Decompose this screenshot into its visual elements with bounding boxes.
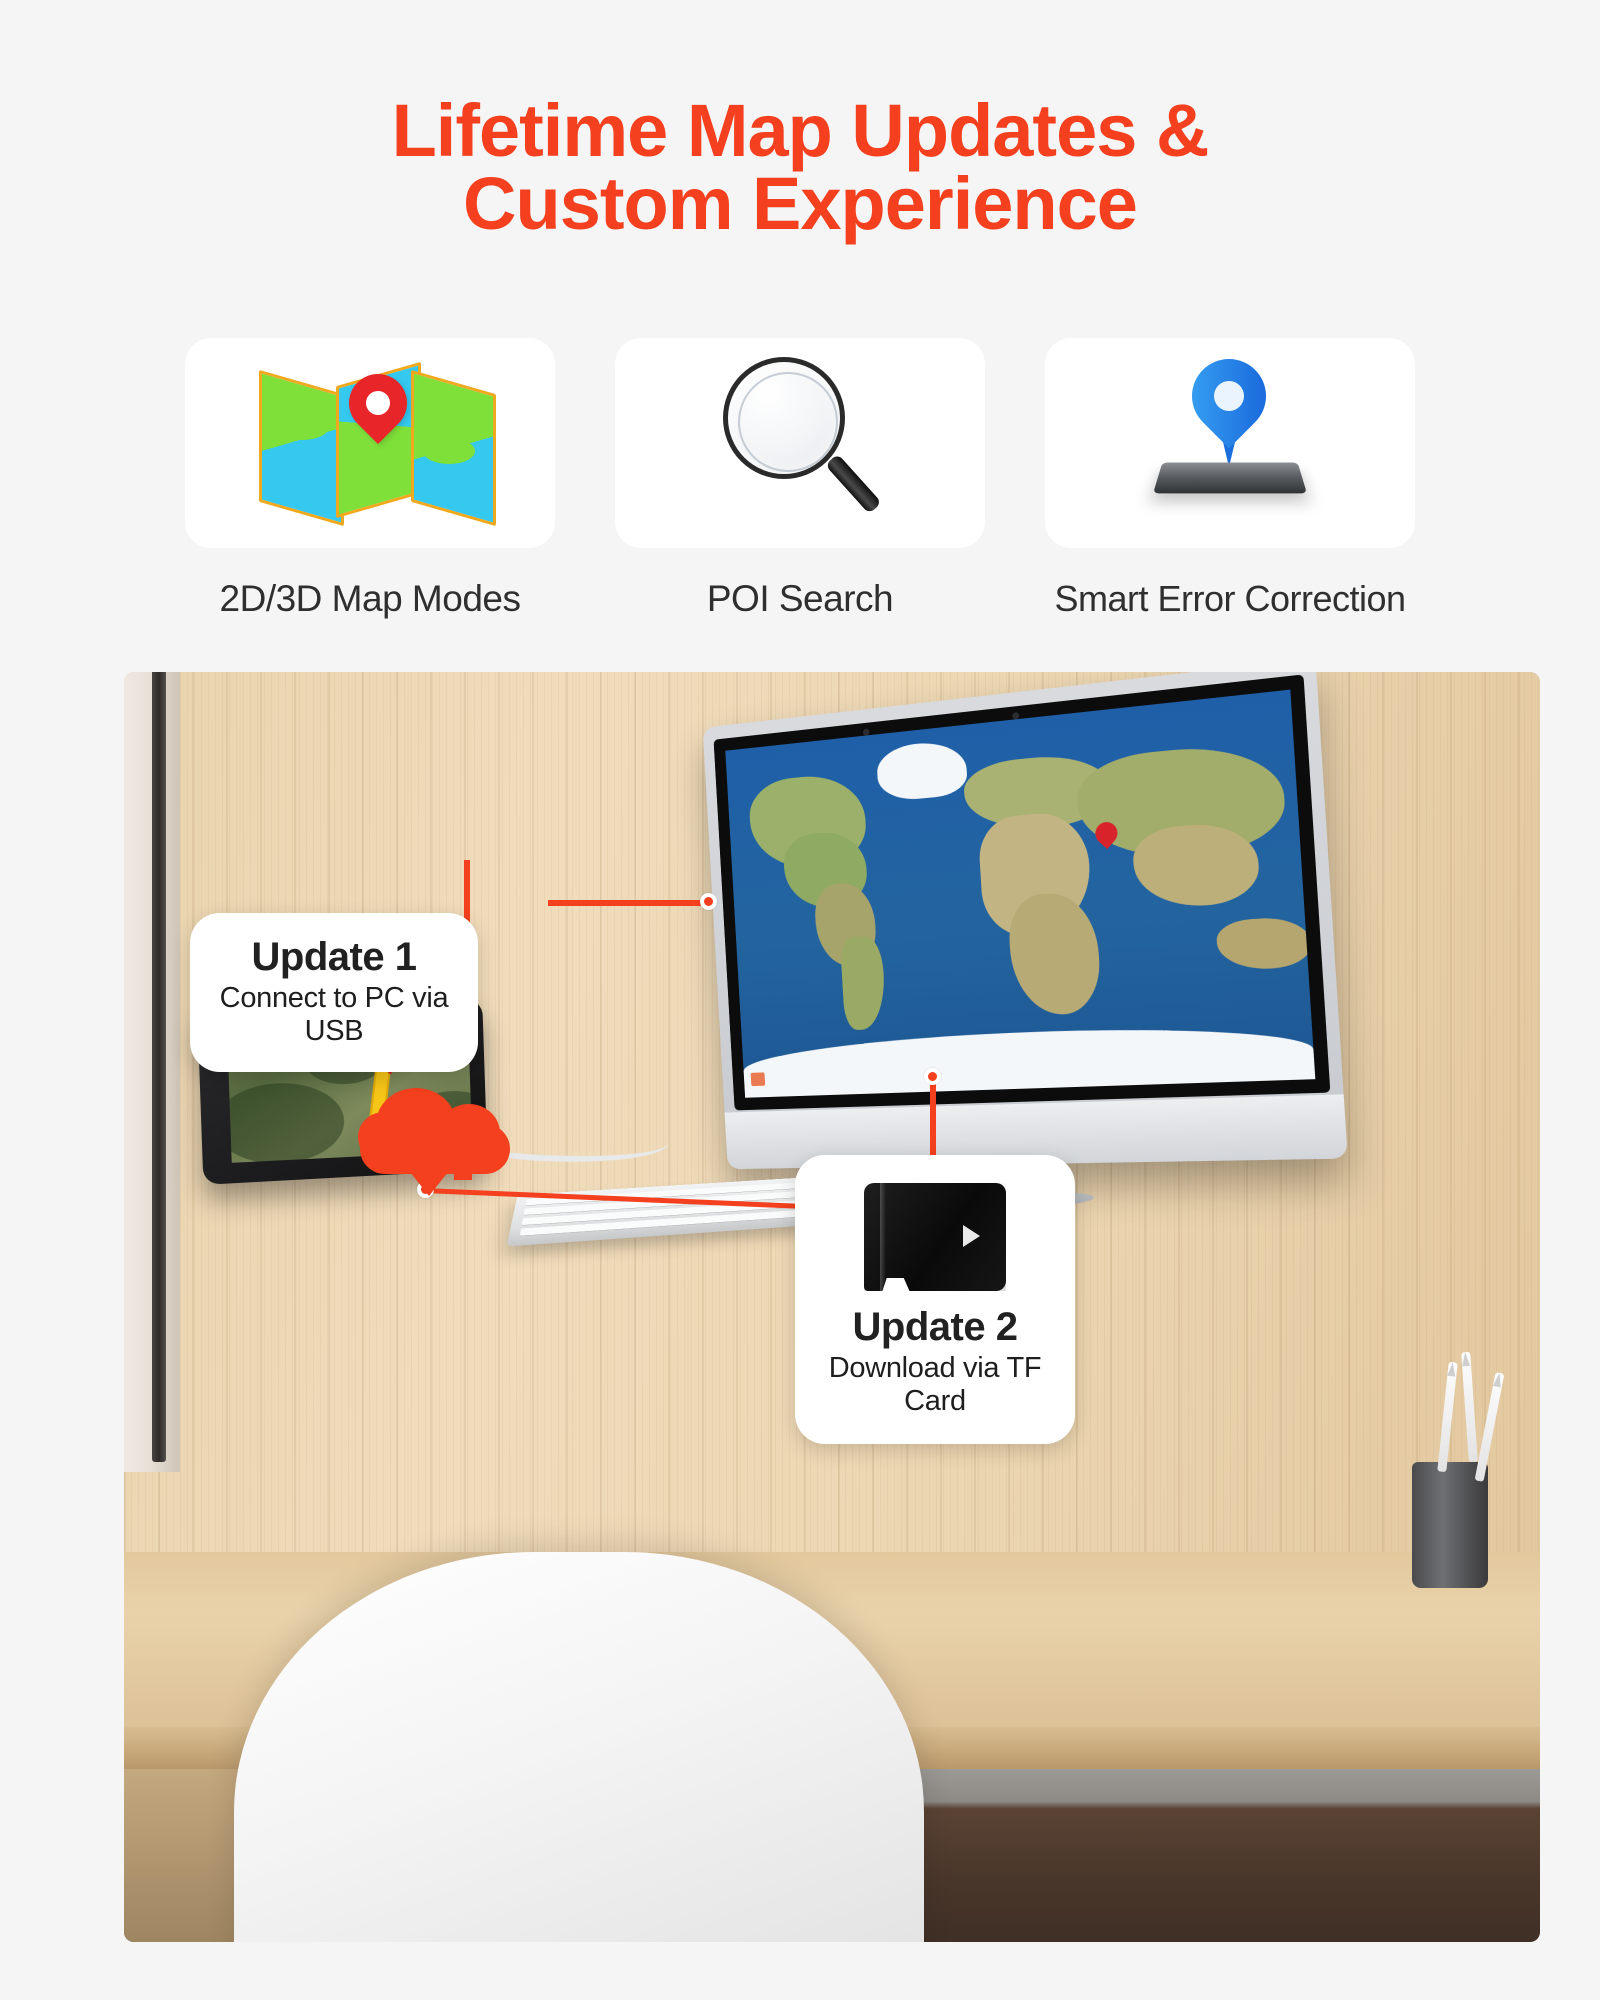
connector-dot-monitor xyxy=(700,893,717,910)
callout-subtitle: Connect to PC via USB xyxy=(208,982,460,1048)
feature-card-icon-tile xyxy=(1045,338,1415,548)
pencil-holder xyxy=(1412,1462,1488,1588)
connector-line-cloud-to-monitor xyxy=(548,900,708,906)
connector-dot-monitor-bottom xyxy=(924,1068,941,1085)
callout-update-1[interactable]: Update 1 Connect to PC via USB xyxy=(190,913,478,1072)
folded-map-icon xyxy=(253,368,488,518)
monitor-body xyxy=(703,672,1348,1169)
all-in-one-monitor xyxy=(684,694,1324,1164)
map-logo-badge xyxy=(751,1072,766,1086)
feature-card-row: 2D/3D Map Modes POI Search Smart Error C… xyxy=(0,338,1600,620)
feature-label: 2D/3D Map Modes xyxy=(185,578,555,620)
callout-subtitle: Download via TF Card xyxy=(811,1352,1059,1418)
tf-card-icon xyxy=(864,1183,1006,1291)
feature-card-icon-tile xyxy=(615,338,985,548)
feature-label: POI Search xyxy=(615,578,985,620)
door-frame-strip xyxy=(152,672,166,1462)
blue-location-pin-icon xyxy=(1140,353,1320,533)
monitor-screen-world-map xyxy=(725,690,1315,1098)
magnifying-glass-icon xyxy=(715,353,885,533)
monitor-bezel xyxy=(714,674,1331,1110)
callout-title: Update 2 xyxy=(811,1305,1059,1350)
feature-2d3d-map-modes[interactable]: 2D/3D Map Modes xyxy=(185,338,555,620)
headline-line-1: Lifetime Map Updates & xyxy=(392,89,1209,172)
callout-title: Update 1 xyxy=(208,935,460,980)
headline-line-2: Custom Experience xyxy=(0,168,1600,241)
cloud-sync-icon xyxy=(352,1072,517,1188)
feature-card-icon-tile xyxy=(185,338,555,548)
callout-update-2[interactable]: Update 2 Download via TF Card xyxy=(795,1155,1075,1444)
feature-poi-search[interactable]: POI Search xyxy=(615,338,985,620)
page-title: Lifetime Map Updates & Custom Experience xyxy=(0,0,1600,240)
desk-leg xyxy=(124,1769,240,1942)
feature-smart-error-correction[interactable]: Smart Error Correction xyxy=(1045,338,1415,620)
feature-label: Smart Error Correction xyxy=(1045,578,1415,620)
